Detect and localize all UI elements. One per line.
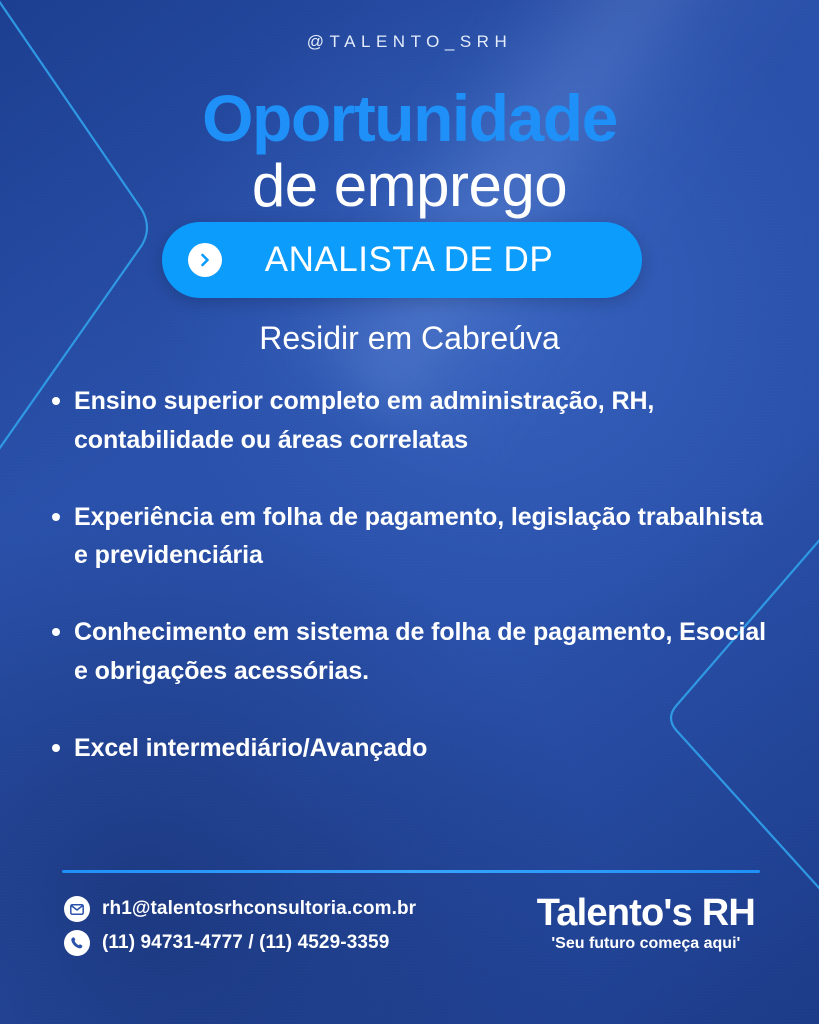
contact-row-email[interactable]: rh1@talentosrhconsultoria.com.br — [64, 896, 416, 922]
job-title-label: ANALISTA DE DP — [222, 240, 642, 280]
bullet-dot-icon — [52, 628, 60, 636]
list-item: Experiência em folha de pagamento, legis… — [52, 498, 782, 576]
list-item: Ensino superior completo em administraçã… — [52, 382, 782, 460]
phone-text: (11) 94731-4777 / (11) 4529-3359 — [102, 932, 389, 954]
logo-tagline: 'Seu futuro começa aqui' — [537, 935, 755, 953]
phone-icon — [64, 930, 90, 956]
requirement-text: Ensino superior completo em administraçã… — [74, 382, 782, 460]
contact-block: rh1@talentosrhconsultoria.com.br (11) 94… — [64, 896, 416, 964]
email-text: rh1@talentosrhconsultoria.com.br — [102, 898, 416, 920]
job-posting-poster: @TALENTO_SRH Oportunidade de emprego ANA… — [0, 0, 819, 1024]
company-logo: Talento's RH 'Seu futuro começa aqui' — [537, 894, 755, 953]
title-sub: de emprego — [0, 157, 819, 216]
job-title-pill[interactable]: ANALISTA DE DP — [162, 222, 642, 298]
list-item: Excel intermediário/Avançado — [52, 729, 782, 768]
title-main: Oportunidade — [0, 86, 819, 151]
page-title: Oportunidade de emprego — [0, 86, 819, 215]
bullet-dot-icon — [52, 513, 60, 521]
bullet-dot-icon — [52, 397, 60, 405]
requirement-text: Excel intermediário/Avançado — [74, 729, 427, 768]
contact-row-phone[interactable]: (11) 94731-4777 / (11) 4529-3359 — [64, 930, 416, 956]
requirement-text: Experiência em folha de pagamento, legis… — [74, 498, 782, 576]
location-requirement: Residir em Cabreúva — [0, 320, 819, 357]
requirements-list: Ensino superior completo em administraçã… — [52, 382, 782, 767]
chevron-right-icon — [188, 243, 222, 277]
logo-name: Talento's RH — [537, 894, 755, 934]
list-item: Conhecimento em sistema de folha de paga… — [52, 613, 782, 691]
bullet-dot-icon — [52, 744, 60, 752]
instagram-handle: @TALENTO_SRH — [0, 32, 819, 52]
footer-divider — [62, 870, 760, 873]
envelope-icon — [64, 896, 90, 922]
requirement-text: Conhecimento em sistema de folha de paga… — [74, 613, 782, 691]
